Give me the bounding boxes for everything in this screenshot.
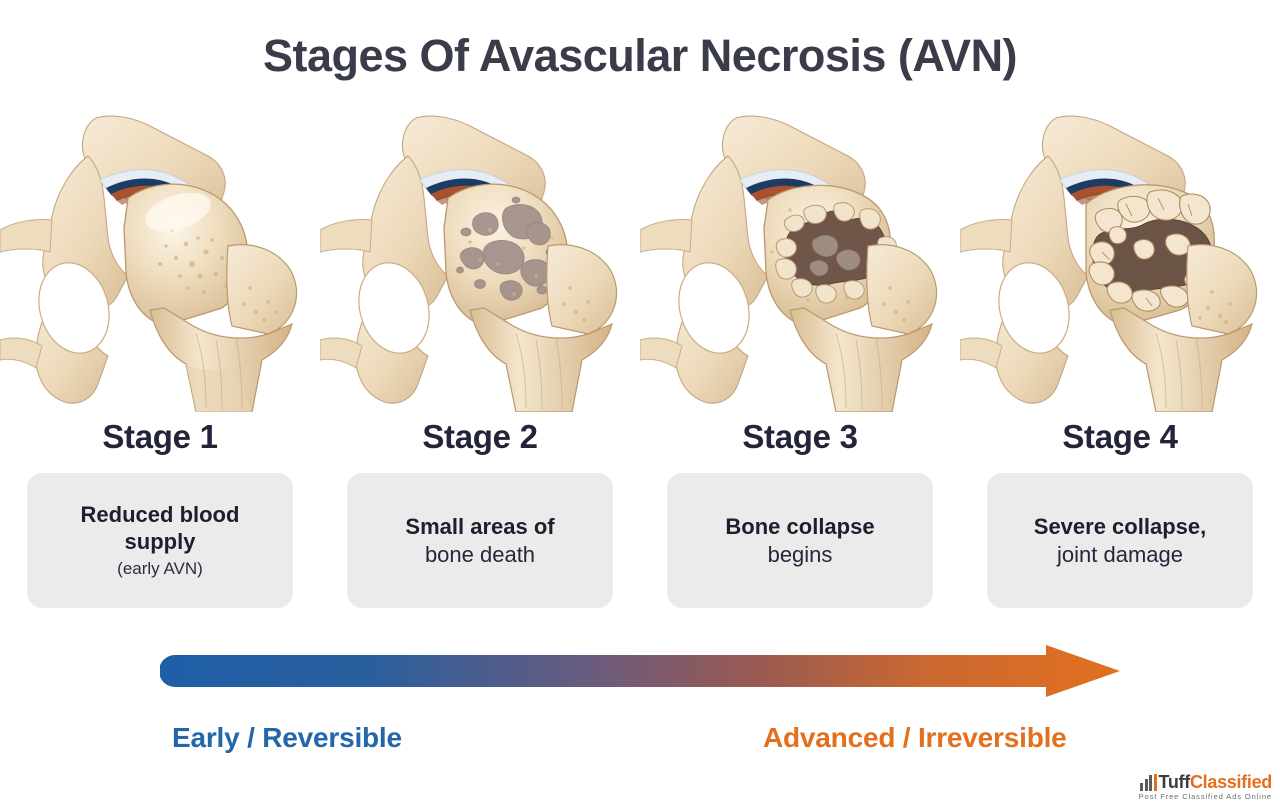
watermark-logo: TuffClassified Post Free Classified Ads … — [1139, 774, 1272, 801]
caption-bold2-1: supply — [125, 528, 196, 555]
stage-column-1: Stage 1 Reduced blood supply (early AVN) — [0, 112, 320, 612]
stage-column-2: Stage 2 Small areas of bone death — [320, 112, 640, 612]
bar-chart-icon — [1140, 774, 1157, 791]
caption-bold-2: Small areas of — [405, 513, 554, 540]
logo-brand-first: Tuff — [1159, 772, 1190, 792]
caption-small-1: (early AVN) — [117, 558, 203, 580]
stage-label-3: Stage 3 — [742, 418, 857, 456]
hip-joint-mottled-necrosis-illustration — [320, 112, 640, 412]
infographic-page: Stages Of Avascular Necrosis (AVN) — [0, 0, 1280, 805]
progression-label-advanced: Advanced / Irreversible — [763, 722, 1067, 754]
stage-label-1: Stage 1 — [102, 418, 217, 456]
logo-tagline: Post Free Classified Ads Online — [1139, 792, 1272, 801]
stage-label-2: Stage 2 — [422, 418, 537, 456]
caption-regular-2: bone death — [425, 541, 535, 568]
caption-bold-1: Reduced blood — [81, 501, 240, 528]
hip-joint-collapse-illustration — [640, 112, 960, 412]
progression-label-early: Early / Reversible — [172, 722, 402, 754]
caption-bold-3: Bone collapse — [725, 513, 874, 540]
stage-column-4: Stage 4 Severe collapse, joint damage — [960, 112, 1280, 612]
page-title: Stages Of Avascular Necrosis (AVN) — [0, 30, 1280, 82]
caption-bold-4: Severe collapse, — [1034, 513, 1206, 540]
stage-column-3: Stage 3 Bone collapse begins — [640, 112, 960, 612]
progression-arrow — [160, 645, 1130, 707]
stage-caption-3: Bone collapse begins — [667, 473, 933, 608]
caption-regular-3: begins — [768, 541, 833, 568]
hip-joint-healthy-illustration — [0, 112, 320, 412]
stage-caption-4: Severe collapse, joint damage — [987, 473, 1253, 608]
stage-label-4: Stage 4 — [1062, 418, 1177, 456]
stage-caption-2: Small areas of bone death — [347, 473, 613, 608]
logo-brand-second: Classified — [1190, 772, 1272, 792]
stages-row: Stage 1 Reduced blood supply (early AVN) — [0, 112, 1280, 612]
caption-regular-4: joint damage — [1057, 541, 1183, 568]
stage-caption-1: Reduced blood supply (early AVN) — [27, 473, 293, 608]
hip-joint-severe-collapse-illustration — [960, 112, 1280, 412]
